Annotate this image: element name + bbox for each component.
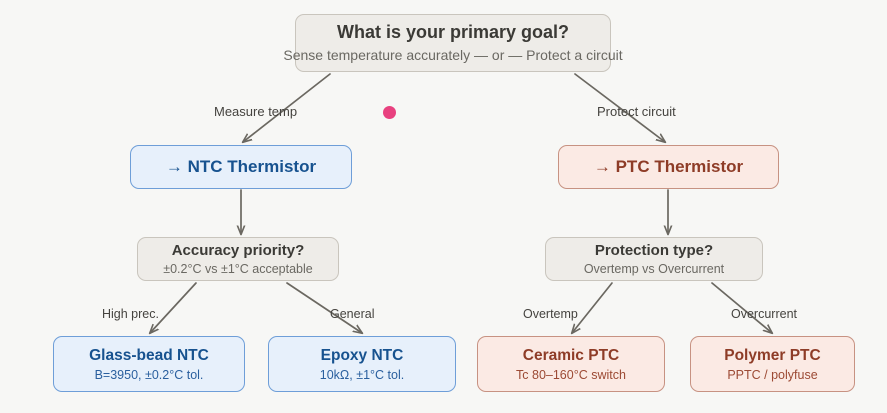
edge-label-general: General xyxy=(330,307,374,321)
diagram-canvas: What is your primary goal? Sense tempera… xyxy=(0,0,887,413)
node-subtitle: 10kΩ, ±1°C tol. xyxy=(320,367,404,383)
node-title: Polymer PTC xyxy=(724,346,820,365)
node-title: → NTC Thermistor xyxy=(166,157,316,177)
node-title: What is your primary goal? xyxy=(337,21,569,43)
node-glass-bead-ntc[interactable]: Glass-bead NTC B=3950, ±0.2°C tol. xyxy=(53,336,245,392)
node-subtitle: Overtemp vs Overcurrent xyxy=(584,261,724,277)
edge-label-high-precision: High prec. xyxy=(102,307,159,321)
node-ntc-thermistor[interactable]: → NTC Thermistor xyxy=(130,145,352,189)
node-primary-goal[interactable]: What is your primary goal? Sense tempera… xyxy=(295,14,611,72)
node-accuracy-priority[interactable]: Accuracy priority? ±0.2°C vs ±1°C accept… xyxy=(137,237,339,281)
node-title: Ceramic PTC xyxy=(523,346,619,365)
node-protection-type[interactable]: Protection type? Overtemp vs Overcurrent xyxy=(545,237,763,281)
node-epoxy-ntc[interactable]: Epoxy NTC 10kΩ, ±1°C tol. xyxy=(268,336,456,392)
node-subtitle: Tc 80–160°C switch xyxy=(516,367,626,383)
node-subtitle: B=3950, ±0.2°C tol. xyxy=(95,367,204,383)
node-subtitle: ±0.2°C vs ±1°C acceptable xyxy=(163,261,312,277)
node-ceramic-ptc[interactable]: Ceramic PTC Tc 80–160°C switch xyxy=(477,336,665,392)
node-polymer-ptc[interactable]: Polymer PTC PPTC / polyfuse xyxy=(690,336,855,392)
node-title: → PTC Thermistor xyxy=(594,157,743,177)
node-title: Accuracy priority? xyxy=(172,242,305,260)
node-ptc-thermistor[interactable]: → PTC Thermistor xyxy=(558,145,779,189)
edge-label-overtemp: Overtemp xyxy=(523,307,578,321)
node-title: Glass-bead NTC xyxy=(89,346,209,365)
cursor-dot-icon xyxy=(383,106,396,119)
node-title: Protection type? xyxy=(595,242,713,260)
edge-protection-to-ceramic xyxy=(572,283,612,333)
node-subtitle: Sense temperature accurately — or — Prot… xyxy=(283,46,622,64)
edge-label-overcurrent: Overcurrent xyxy=(731,307,797,321)
edge-label-measure-temp: Measure temp xyxy=(214,104,297,119)
edge-label-protect-circuit: Protect circuit xyxy=(597,104,676,119)
node-subtitle: PPTC / polyfuse xyxy=(727,367,817,383)
node-title: Epoxy NTC xyxy=(321,346,404,365)
